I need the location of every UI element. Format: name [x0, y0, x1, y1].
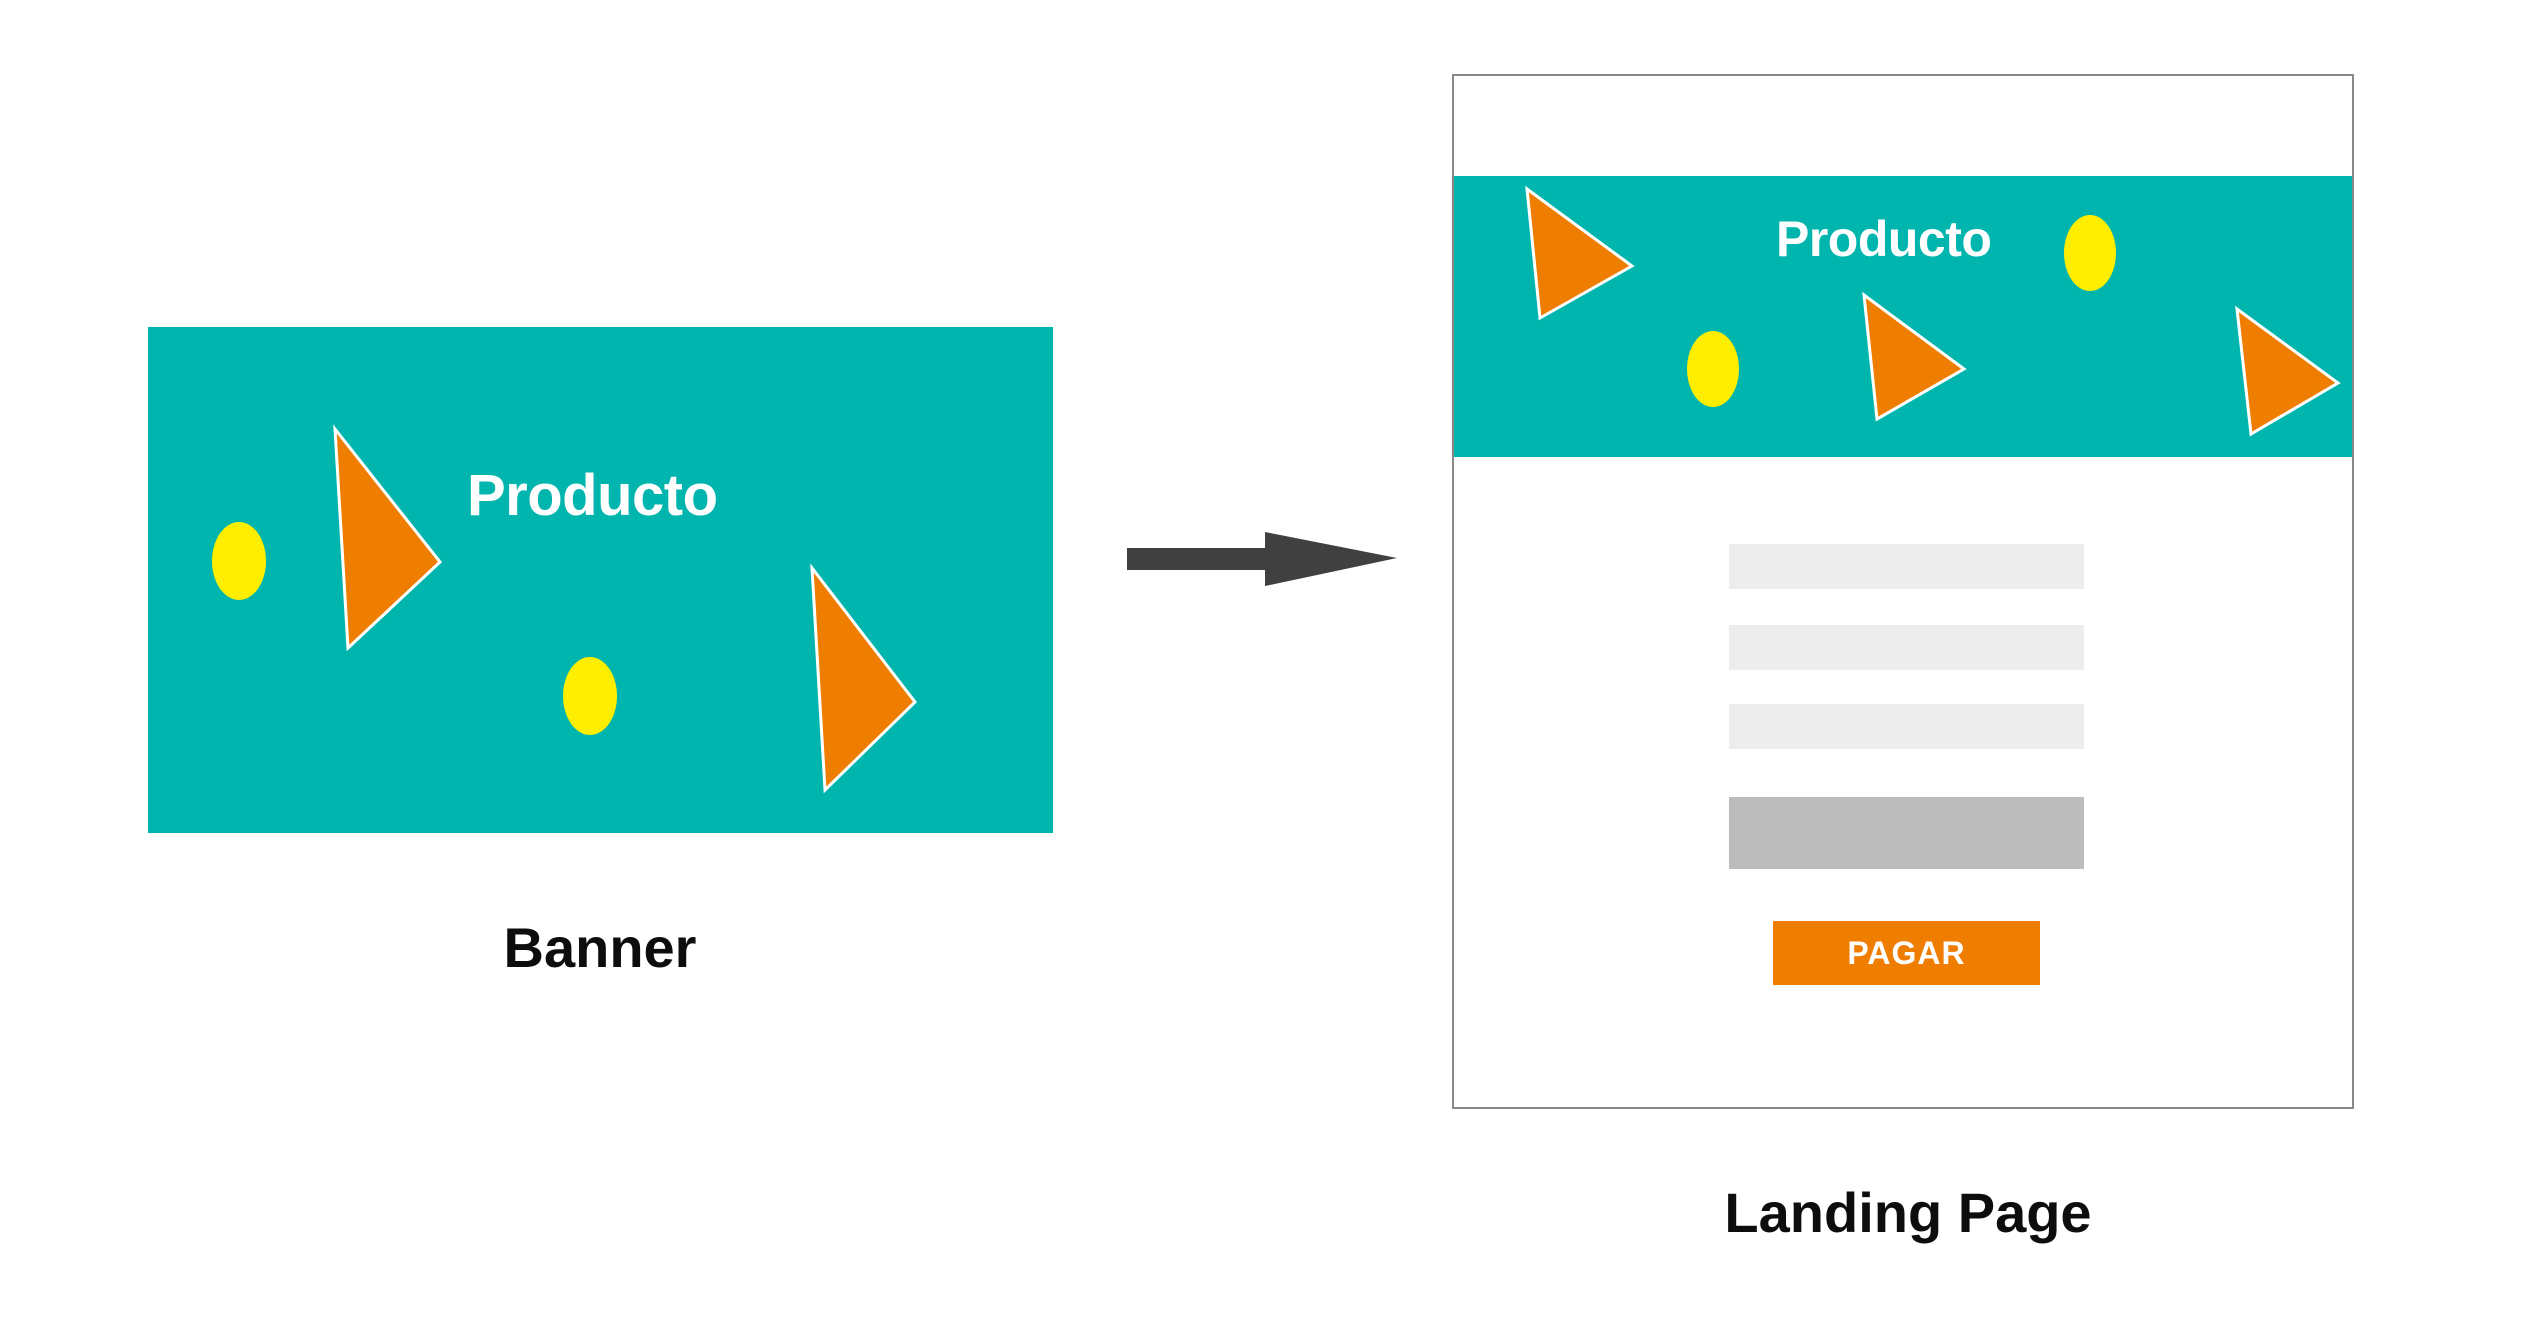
- triangle-orange-2-icon: [1864, 295, 1964, 419]
- banner-decorative-shapes: [148, 327, 1053, 833]
- diagram-canvas: Producto Banner Producto PAGAR Landing P…: [0, 0, 2542, 1320]
- content-row-1: [1729, 544, 2084, 589]
- banner-product-title: Producto: [467, 467, 718, 525]
- landing-page-mockup: Producto PAGAR: [1452, 74, 2354, 1109]
- content-row-3: [1729, 704, 2084, 749]
- content-row-4: [1729, 797, 2084, 869]
- ellipse-yellow-2-icon: [563, 657, 617, 735]
- ellipse-yellow-2-icon: [1687, 331, 1739, 407]
- landing-page-caption-label: Landing Page: [1608, 1185, 2208, 1241]
- banner-caption-label: Banner: [300, 920, 900, 976]
- triangle-orange-3-icon: [2237, 309, 2338, 434]
- triangle-orange-1-icon: [1527, 189, 1632, 318]
- content-row-2: [1729, 625, 2084, 670]
- pagar-button[interactable]: PAGAR: [1773, 921, 2040, 985]
- ellipse-yellow-1-icon: [2064, 215, 2116, 291]
- landing-hero-banner: Producto: [1454, 176, 2352, 457]
- triangle-orange-1-icon: [335, 429, 440, 648]
- landing-hero-product-title: Producto: [1776, 214, 1991, 264]
- ellipse-yellow-1-icon: [212, 522, 266, 600]
- arrow-right-icon: [1127, 530, 1397, 590]
- banner-mockup: Producto: [148, 327, 1053, 833]
- triangle-orange-2-icon: [812, 568, 915, 790]
